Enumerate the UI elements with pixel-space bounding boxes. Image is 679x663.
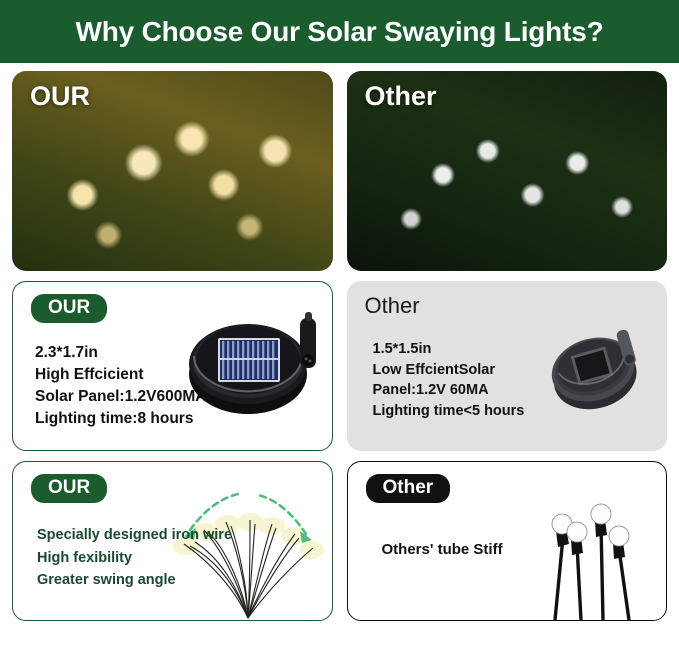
our-spec-line-2: High Effcicient [35, 364, 206, 386]
our-spec-badge-wrap: OUR [31, 294, 107, 323]
our-feature-badge-wrap: OUR [31, 474, 107, 503]
page-title: Why Choose Our Solar Swaying Lights? [76, 16, 604, 48]
comparison-grid: OUR Other OUR 2.3*1.7in High Effcicient … [0, 63, 679, 629]
other-photo-label: Other [365, 81, 437, 112]
other-feature-badge: Other [366, 474, 451, 503]
feature-row: OUR Specially designed iron wire High fe… [12, 461, 667, 621]
other-spec-badge: Other [365, 293, 420, 318]
feature-cell-other: Other Others' tube Stiff [347, 461, 668, 621]
other-spec-badge-wrap: Other [365, 293, 420, 319]
stiff-straight-tube-lights-icon [525, 495, 660, 620]
photo-cell-other: Other [347, 71, 668, 271]
our-lights-photo: OUR [12, 71, 333, 271]
photo-row: OUR Other [12, 71, 667, 271]
other-feature-card: Other Others' tube Stiff [347, 461, 668, 621]
our-spec-badge: OUR [31, 294, 107, 323]
spec-cell-other: Other 1.5*1.5in Low EffcientSolar Panel:… [347, 281, 668, 451]
photo-cell-our: OUR [12, 71, 333, 271]
our-spec-line-4: Lighting time:8 hours [35, 408, 206, 430]
other-feature-list: Others' tube Stiff [382, 538, 503, 561]
other-spec-card: Other 1.5*1.5in Low EffcientSolar Panel:… [347, 281, 668, 451]
our-feature-badge: OUR [31, 474, 107, 503]
small-round-solar-panel-lamp-icon [533, 317, 663, 422]
spec-row: OUR 2.3*1.7in High Effcicient Solar Pane… [12, 281, 667, 451]
other-spec-list: 1.5*1.5in Low EffcientSolar Panel:1.2V 6… [373, 339, 525, 421]
our-feature-line-3: Greater swing angle [37, 569, 232, 592]
other-spec-line-3: Panel:1.2V 60MA [373, 380, 525, 401]
other-lights-photo: Other [347, 71, 668, 271]
our-feature-list: Specially designed iron wire High fexibi… [37, 524, 232, 592]
other-feature-line-1: Others' tube Stiff [382, 538, 503, 561]
other-spec-line-4: Lighting time<5 hours [373, 401, 525, 422]
our-spec-list: 2.3*1.7in High Effcicient Solar Panel:1.… [35, 342, 206, 430]
our-feature-line-2: High fexibility [37, 547, 232, 570]
other-spec-line-2: Low EffcientSolar [373, 360, 525, 381]
our-spec-card: OUR 2.3*1.7in High Effcicient Solar Pane… [12, 281, 333, 451]
spec-cell-our: OUR 2.3*1.7in High Effcicient Solar Pane… [12, 281, 333, 451]
feature-cell-our: OUR Specially designed iron wire High fe… [12, 461, 333, 621]
our-feature-card: OUR Specially designed iron wire High fe… [12, 461, 333, 621]
other-spec-line-1: 1.5*1.5in [373, 339, 525, 360]
our-photo-label: OUR [30, 81, 90, 112]
our-spec-line-3: Solar Panel:1.2V600MA [35, 386, 206, 408]
other-feature-badge-wrap: Other [366, 474, 451, 503]
our-spec-line-1: 2.3*1.7in [35, 342, 206, 364]
page-header: Why Choose Our Solar Swaying Lights? [0, 0, 679, 63]
our-feature-line-1: Specially designed iron wire [37, 524, 232, 547]
